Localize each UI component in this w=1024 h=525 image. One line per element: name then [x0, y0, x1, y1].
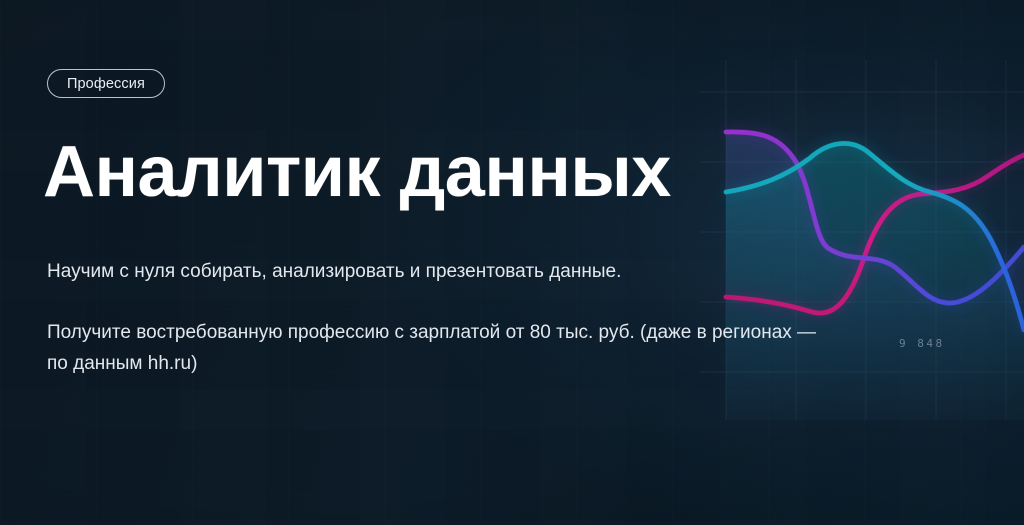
- hero-banner: Профессия Аналитик данных Научим с нуля …: [0, 0, 1024, 525]
- category-badge[interactable]: Профессия: [47, 69, 165, 98]
- hero-subtext: Получите востребованную профессию с зарп…: [47, 318, 822, 380]
- category-badge-label: Профессия: [67, 76, 145, 92]
- hero-content: Профессия Аналитик данных Научим с нуля …: [47, 0, 837, 525]
- hero-lede-text: Научим с нуля собирать, анализировать и …: [47, 258, 787, 286]
- chart-value-readout: 9 848: [899, 337, 945, 350]
- page-title: Аналитик данных: [43, 136, 671, 208]
